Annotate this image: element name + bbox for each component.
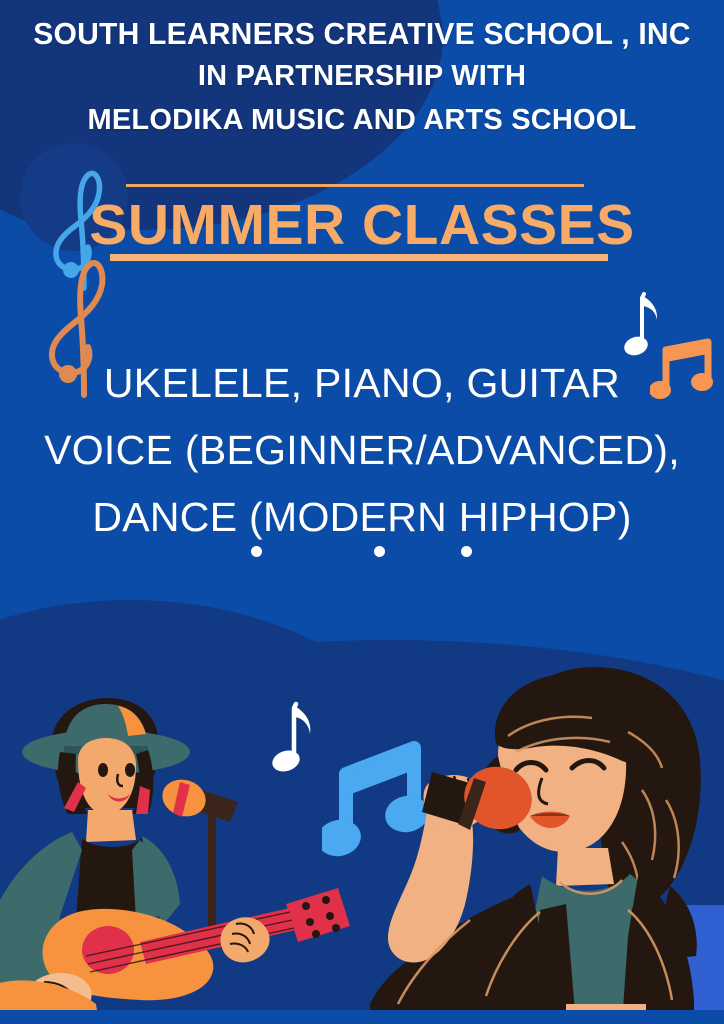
title-rule-top <box>126 184 584 187</box>
school-name-line: SOUTH LEARNERS CREATIVE SCHOOL , INC <box>11 14 713 54</box>
course-line-3: DANCE (MODERN HIPHOP) <box>0 484 724 551</box>
summer-classes-poster: SOUTH LEARNERS CREATIVE SCHOOL , INC IN … <box>0 0 724 1024</box>
partner-school-line: MELODIKA MUSIC AND ARTS SCHOOL <box>0 98 724 142</box>
title-rule-bottom <box>110 254 608 261</box>
bottom-edge-strip <box>0 1010 724 1024</box>
treble-clef-icon <box>38 254 122 404</box>
poster-header: SOUTH LEARNERS CREATIVE SCHOOL , INC IN … <box>0 14 724 142</box>
partnership-line: IN PARTNERSHIP WITH <box>0 54 724 98</box>
course-line-2: VOICE (BEGINNER/ADVANCED), <box>0 417 724 484</box>
separator-dot <box>251 546 262 557</box>
separator-dot <box>374 546 385 557</box>
singer-illustration <box>370 660 724 1024</box>
separator-dot <box>461 546 472 557</box>
beamed-notes-icon <box>650 338 716 404</box>
guitar-player-illustration <box>0 690 370 1024</box>
